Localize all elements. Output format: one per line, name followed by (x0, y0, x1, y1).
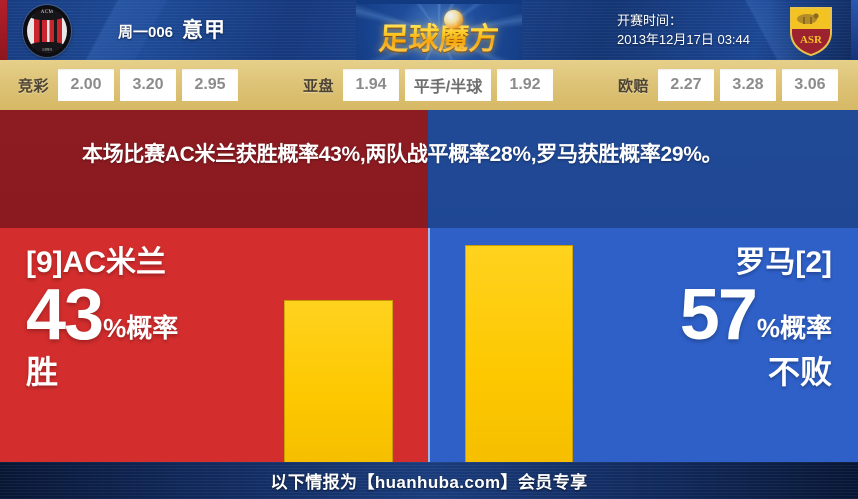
odds-cell[interactable]: 2.95 (182, 69, 238, 101)
away-team-stats: 罗马[2] 57 %概率 不败 (680, 246, 832, 392)
odds-cell[interactable]: 2.00 (58, 69, 114, 101)
odds-cell[interactable]: 1.94 (343, 69, 399, 101)
odds-group-jingcai: 竞彩 2.00 3.20 2.95 (18, 69, 238, 101)
away-color-accent-bar (851, 0, 858, 60)
kickoff-time-label: 开赛时间： (617, 11, 750, 30)
home-team-panel: [9]AC米兰 43 %概率 胜 (0, 228, 428, 462)
as-roma-crest-icon: ASR (788, 5, 834, 57)
away-probability-value: 57 (680, 282, 756, 348)
away-probability-bar (465, 245, 573, 462)
away-verdict-label: 不败 (680, 352, 832, 392)
match-round-label: 周一006 (118, 21, 173, 42)
summary-band: 本场比赛AC米兰获胜概率43%,两队战平概率28%,罗马获胜概率29%。 (0, 110, 858, 228)
brand-logo[interactable]: 足球魔方 (356, 0, 522, 60)
odds-cell[interactable]: 3.20 (120, 69, 176, 101)
league-name-label: 意甲 (182, 14, 226, 44)
odds-group-label: 竞彩 (18, 75, 49, 96)
odds-group-label: 亚盘 (303, 75, 334, 96)
panel-divider (428, 228, 430, 462)
footer-notice-text: 以下情报为【huanhuba.com】会员专享 (270, 468, 587, 493)
kickoff-time: 开赛时间： 2013年12月17日 03:44 (617, 11, 750, 49)
home-color-accent-bar (0, 0, 7, 60)
odds-group-european: 欧赔 2.27 3.28 3.06 (618, 69, 838, 101)
ac-milan-crest-icon (23, 5, 71, 57)
kickoff-time-value: 2013年12月17日 03:44 (617, 30, 750, 49)
home-probability-unit: %概率 (103, 313, 178, 348)
odds-bar: 竞彩 2.00 3.20 2.95 亚盘 1.94 平手/半球 1.92 欧赔 … (0, 60, 858, 110)
odds-cell[interactable]: 2.27 (658, 69, 714, 101)
odds-cell[interactable]: 3.06 (782, 69, 838, 101)
odds-group-asian-handicap: 亚盘 1.94 平手/半球 1.92 (303, 69, 553, 101)
header-bar: 周一006 意甲 足球魔方 开赛时间： 2013年12月17日 03:44 AS… (0, 0, 858, 60)
odds-cell-handicap[interactable]: 平手/半球 (405, 69, 491, 101)
home-probability-bar (284, 300, 393, 462)
footer-bar: 以下情报为【huanhuba.com】会员专享 (0, 462, 858, 499)
brand-logo-text: 足球魔方 (356, 14, 522, 58)
summary-text: 本场比赛AC米兰获胜概率43%,两队战平概率28%,罗马获胜概率29%。 (82, 138, 782, 171)
away-team-panel: 罗马[2] 57 %概率 不败 (428, 228, 858, 462)
odds-cell[interactable]: 3.28 (720, 69, 776, 101)
home-probability-value: 43 (26, 282, 102, 348)
home-team-stats: [9]AC米兰 43 %概率 胜 (26, 246, 178, 392)
odds-cell[interactable]: 1.92 (497, 69, 553, 101)
away-probability-unit: %概率 (757, 313, 832, 348)
match-probability-infographic: 周一006 意甲 足球魔方 开赛时间： 2013年12月17日 03:44 AS… (0, 0, 858, 499)
odds-group-label: 欧赔 (618, 75, 649, 96)
match-title: 周一006 意甲 (118, 14, 226, 44)
soccer-ball-icon (444, 10, 463, 29)
home-verdict-label: 胜 (26, 352, 178, 392)
svg-text:ASR: ASR (800, 34, 823, 46)
